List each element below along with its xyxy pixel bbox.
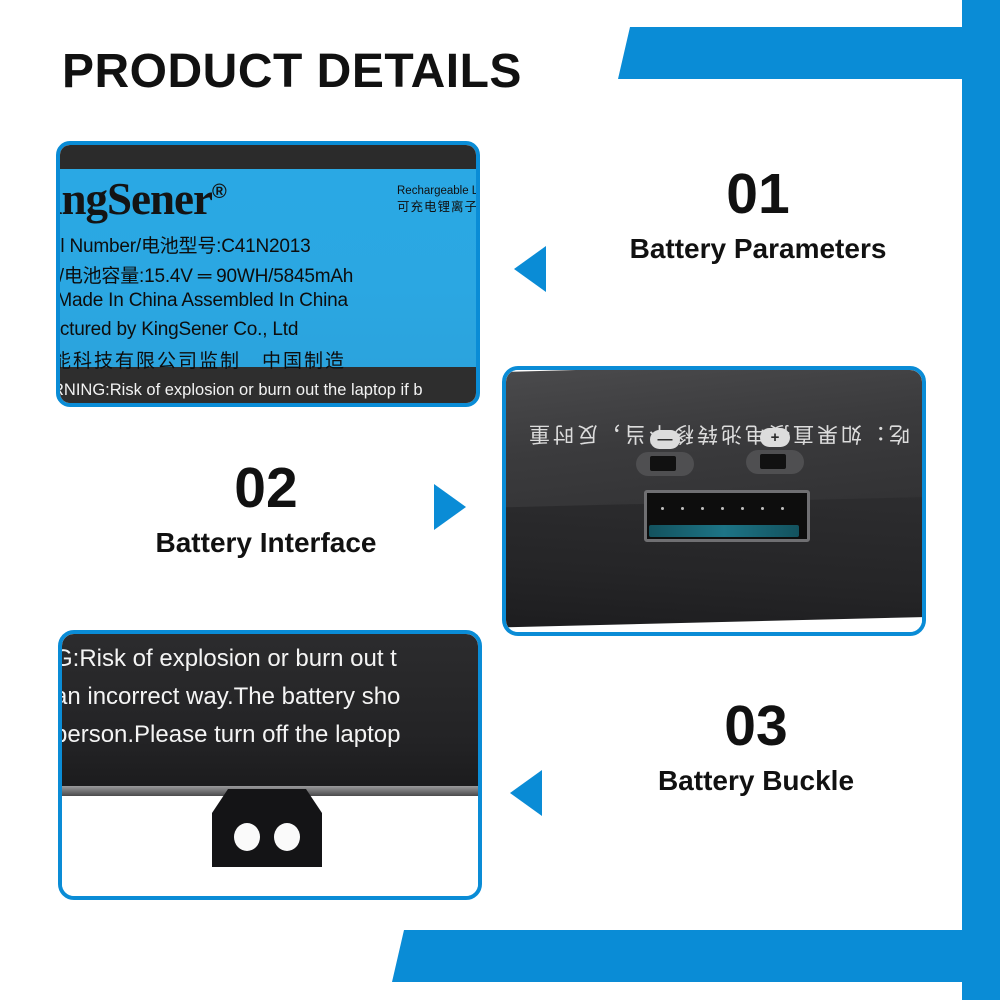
buckle-warning-line-1: G:Risk of explosion or burn out t (58, 640, 482, 678)
negative-terminal: — (636, 452, 694, 476)
battery-buckle-photo: G:Risk of explosion or burn out t an inc… (62, 634, 478, 896)
buckle-bracket (212, 789, 322, 867)
label-warning-text: RNING:Risk of explosion or burn out the … (56, 381, 423, 400)
triangle-right-icon-02 (434, 484, 466, 530)
triangle-left-icon-01 (514, 246, 546, 292)
brand-word: ingSener (56, 174, 212, 224)
buckle-hole-left (234, 823, 260, 851)
callout-caption-02: Battery Interface (118, 527, 414, 559)
rechargeable-cn: 可充电锂离子电池 (397, 199, 480, 215)
callout-02: 02 Battery Interface (118, 460, 414, 559)
buckle-warning-text: G:Risk of explosion or burn out t an inc… (58, 640, 482, 754)
battery-buckle-card: G:Risk of explosion or burn out t an inc… (58, 630, 482, 900)
callout-number-01: 01 (598, 166, 918, 223)
negative-terminal-slot (650, 456, 676, 471)
battery-connector (644, 490, 810, 542)
battery-interface-photo: 吃：如果直接电池转移不当，反时重 — + (506, 370, 922, 632)
triangle-left-icon-03 (510, 770, 542, 816)
plus-icon: + (760, 428, 790, 447)
rechargeable-en: Rechargeable Li-io (397, 185, 480, 197)
frame-right-bar (962, 0, 1000, 1000)
label-top-strip (60, 145, 476, 169)
label-capacity: ng/电池容量:15.4V ═ 90WH/5845mAh (56, 261, 353, 288)
label-manufacturer: ufactured by KingSener Co., Ltd (56, 319, 298, 341)
callout-caption-01: Battery Parameters (598, 233, 918, 265)
callout-number-03: 03 (596, 698, 916, 755)
page-title: PRODUCT DETAILS (62, 44, 522, 99)
minus-icon: — (650, 430, 680, 449)
buckle-warning-line-2: an incorrect way.The battery sho (58, 678, 482, 716)
frame-bottom-banner (392, 930, 962, 982)
interface-overlay-text: 吃：如果直接电池转移不当，反时重 (506, 388, 926, 448)
label-company-cn: 能科技有限公司监制 中国制造 (56, 346, 346, 373)
battery-label-photo: ingSener® Rechargeable Li-io 可充电锂离子电池 le… (60, 145, 476, 403)
rechargeable-note: Rechargeable Li-io 可充电锂离子电池 (397, 183, 480, 215)
positive-terminal: + (746, 450, 804, 474)
connector-pins (655, 507, 797, 510)
callout-caption-03: Battery Buckle (596, 765, 916, 797)
battery-interface-card: 吃：如果直接电池转移不当，反时重 — + (502, 366, 926, 636)
callout-01: 01 Battery Parameters (598, 166, 918, 265)
callout-03: 03 Battery Buckle (596, 698, 916, 797)
connector-pcb (649, 525, 799, 537)
buckle-hole-right (274, 823, 300, 851)
buckle-warning-line-3: person.Please turn off the laptop (58, 716, 482, 754)
callout-number-02: 02 (118, 460, 414, 517)
kingsener-brand-text: ingSener® (56, 173, 226, 225)
positive-terminal-slot (760, 454, 786, 469)
label-origin: s Made In China Assembled In China (56, 290, 348, 312)
registered-trademark-icon: ® (212, 181, 226, 203)
battery-label-card: ingSener® Rechargeable Li-io 可充电锂离子电池 le… (56, 141, 480, 407)
label-model-number: lel Number/电池型号:C41N2013 (56, 231, 310, 258)
frame-top-banner (618, 27, 962, 79)
